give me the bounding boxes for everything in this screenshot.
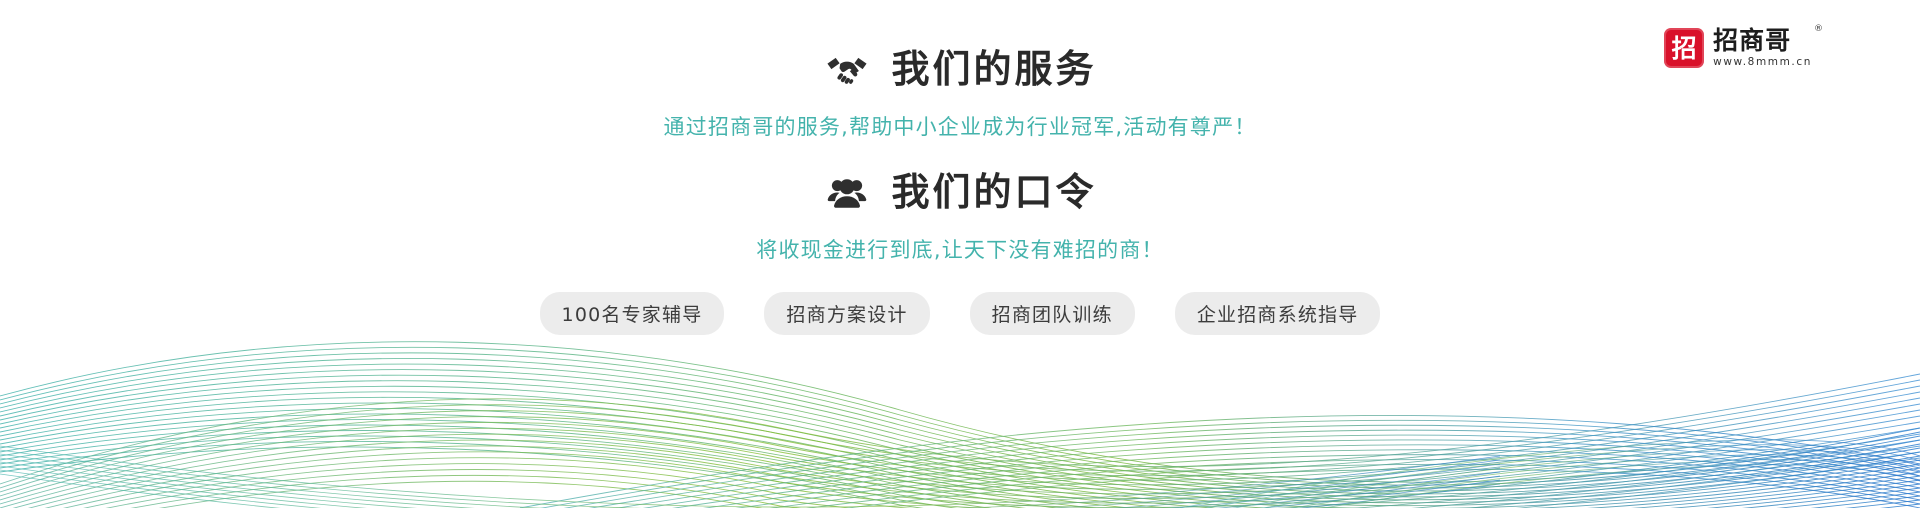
tag-system-guidance[interactable]: 企业招商系统指导: [1175, 292, 1381, 335]
slogan-heading-text: 我们的口令: [891, 171, 1096, 215]
tag-team-training[interactable]: 招商团队训练: [970, 292, 1135, 335]
service-heading-row: 我们的服务: [664, 46, 1257, 94]
slogan-section: 我们的口令 将收现金进行到底,让天下没有难招的商！: [756, 169, 1163, 264]
tag-plan-design[interactable]: 招商方案设计: [764, 292, 929, 335]
banner-content: 我们的服务 通过招商哥的服务,帮助中小企业成为行业冠军,活动有尊严！ 我们的: [0, 0, 1920, 335]
handshake-icon: [823, 46, 871, 94]
service-banner-page: 招 招商哥® www.8mmm.cn: [0, 0, 1920, 508]
tag-expert-coaching[interactable]: 100名专家辅导: [540, 292, 725, 335]
service-tag-list: 100名专家辅导 招商方案设计 招商团队训练 企业招商系统指导: [540, 292, 1381, 335]
slogan-heading-row: 我们的口令: [756, 169, 1163, 217]
service-heading-text: 我们的服务: [891, 48, 1096, 92]
people-group-icon: [823, 169, 871, 217]
slogan-subtitle: 将收现金进行到底,让天下没有难招的商！: [756, 234, 1163, 264]
service-section: 我们的服务 通过招商哥的服务,帮助中小企业成为行业冠军,活动有尊严！: [664, 46, 1257, 141]
service-subtitle: 通过招商哥的服务,帮助中小企业成为行业冠军,活动有尊严！: [664, 111, 1257, 141]
